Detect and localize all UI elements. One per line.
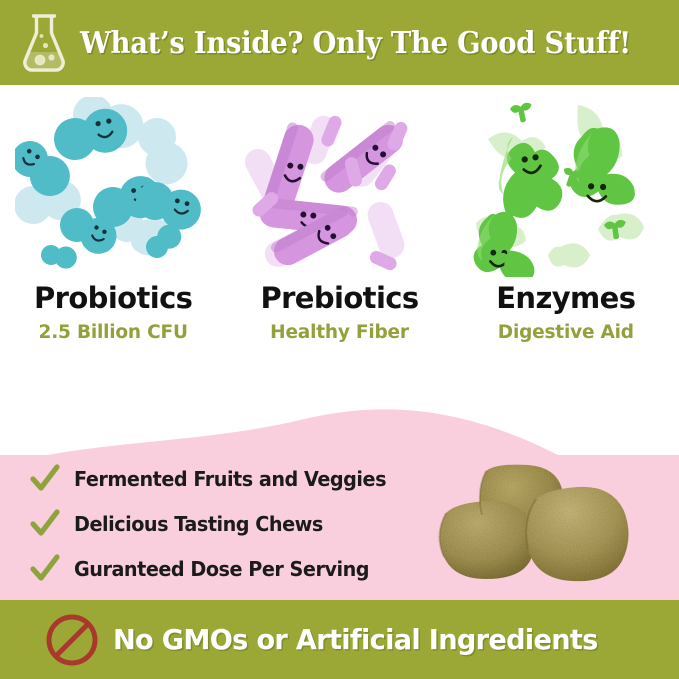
benefit-label: Delicious Tasting Chews (74, 512, 323, 536)
column-subtitle-prebiotics: Healthy Fiber (270, 322, 409, 343)
column-probiotics: Probiotics 2.5 Billion CFU (0, 85, 226, 385)
footer-title: No GMOs or Artificial Ingredients (113, 623, 598, 656)
benefit-label: Fermented Fruits and Veggies (74, 467, 386, 491)
column-subtitle-probiotics: 2.5 Billion CFU (39, 322, 188, 343)
list-item: Guranteed Dose Per Serving (30, 548, 430, 589)
no-symbol-icon (44, 612, 100, 668)
product-infographic: What’s Inside? Only The Good Stuff! (0, 0, 679, 679)
check-icon (30, 464, 60, 494)
ingredient-columns: Probiotics 2.5 Billion CFU (0, 85, 679, 385)
column-title-prebiotics: Prebiotics (260, 281, 418, 315)
footer-banner: No GMOs or Artificial Ingredients (0, 600, 679, 679)
benefit-label: Guranteed Dose Per Serving (74, 557, 369, 581)
benefits-list: Fermented Fruits and Veggies Delicious T… (30, 458, 430, 593)
check-icon (30, 509, 60, 539)
column-title-probiotics: Probiotics (34, 281, 192, 315)
list-item: Delicious Tasting Chews (30, 503, 430, 544)
flask-icon (18, 12, 70, 74)
header-banner: What’s Inside? Only The Good Stuff! (0, 0, 679, 85)
list-item: Fermented Fruits and Veggies (30, 458, 430, 499)
chew-cubes-photo (432, 447, 647, 595)
enzyme-molecules-illustration (468, 97, 664, 277)
column-subtitle-enzymes: Digestive Aid (498, 322, 634, 343)
column-enzymes: Enzymes Digestive Aid (453, 85, 679, 385)
prebiotic-fiber-rods-illustration (241, 97, 437, 277)
header-title: What’s Inside? Only The Good Stuff! (80, 25, 631, 60)
column-prebiotics: Prebiotics Healthy Fiber (226, 85, 452, 385)
probiotic-bacteria-illustration (15, 97, 211, 277)
column-title-enzymes: Enzymes (496, 281, 635, 315)
check-icon (30, 554, 60, 584)
